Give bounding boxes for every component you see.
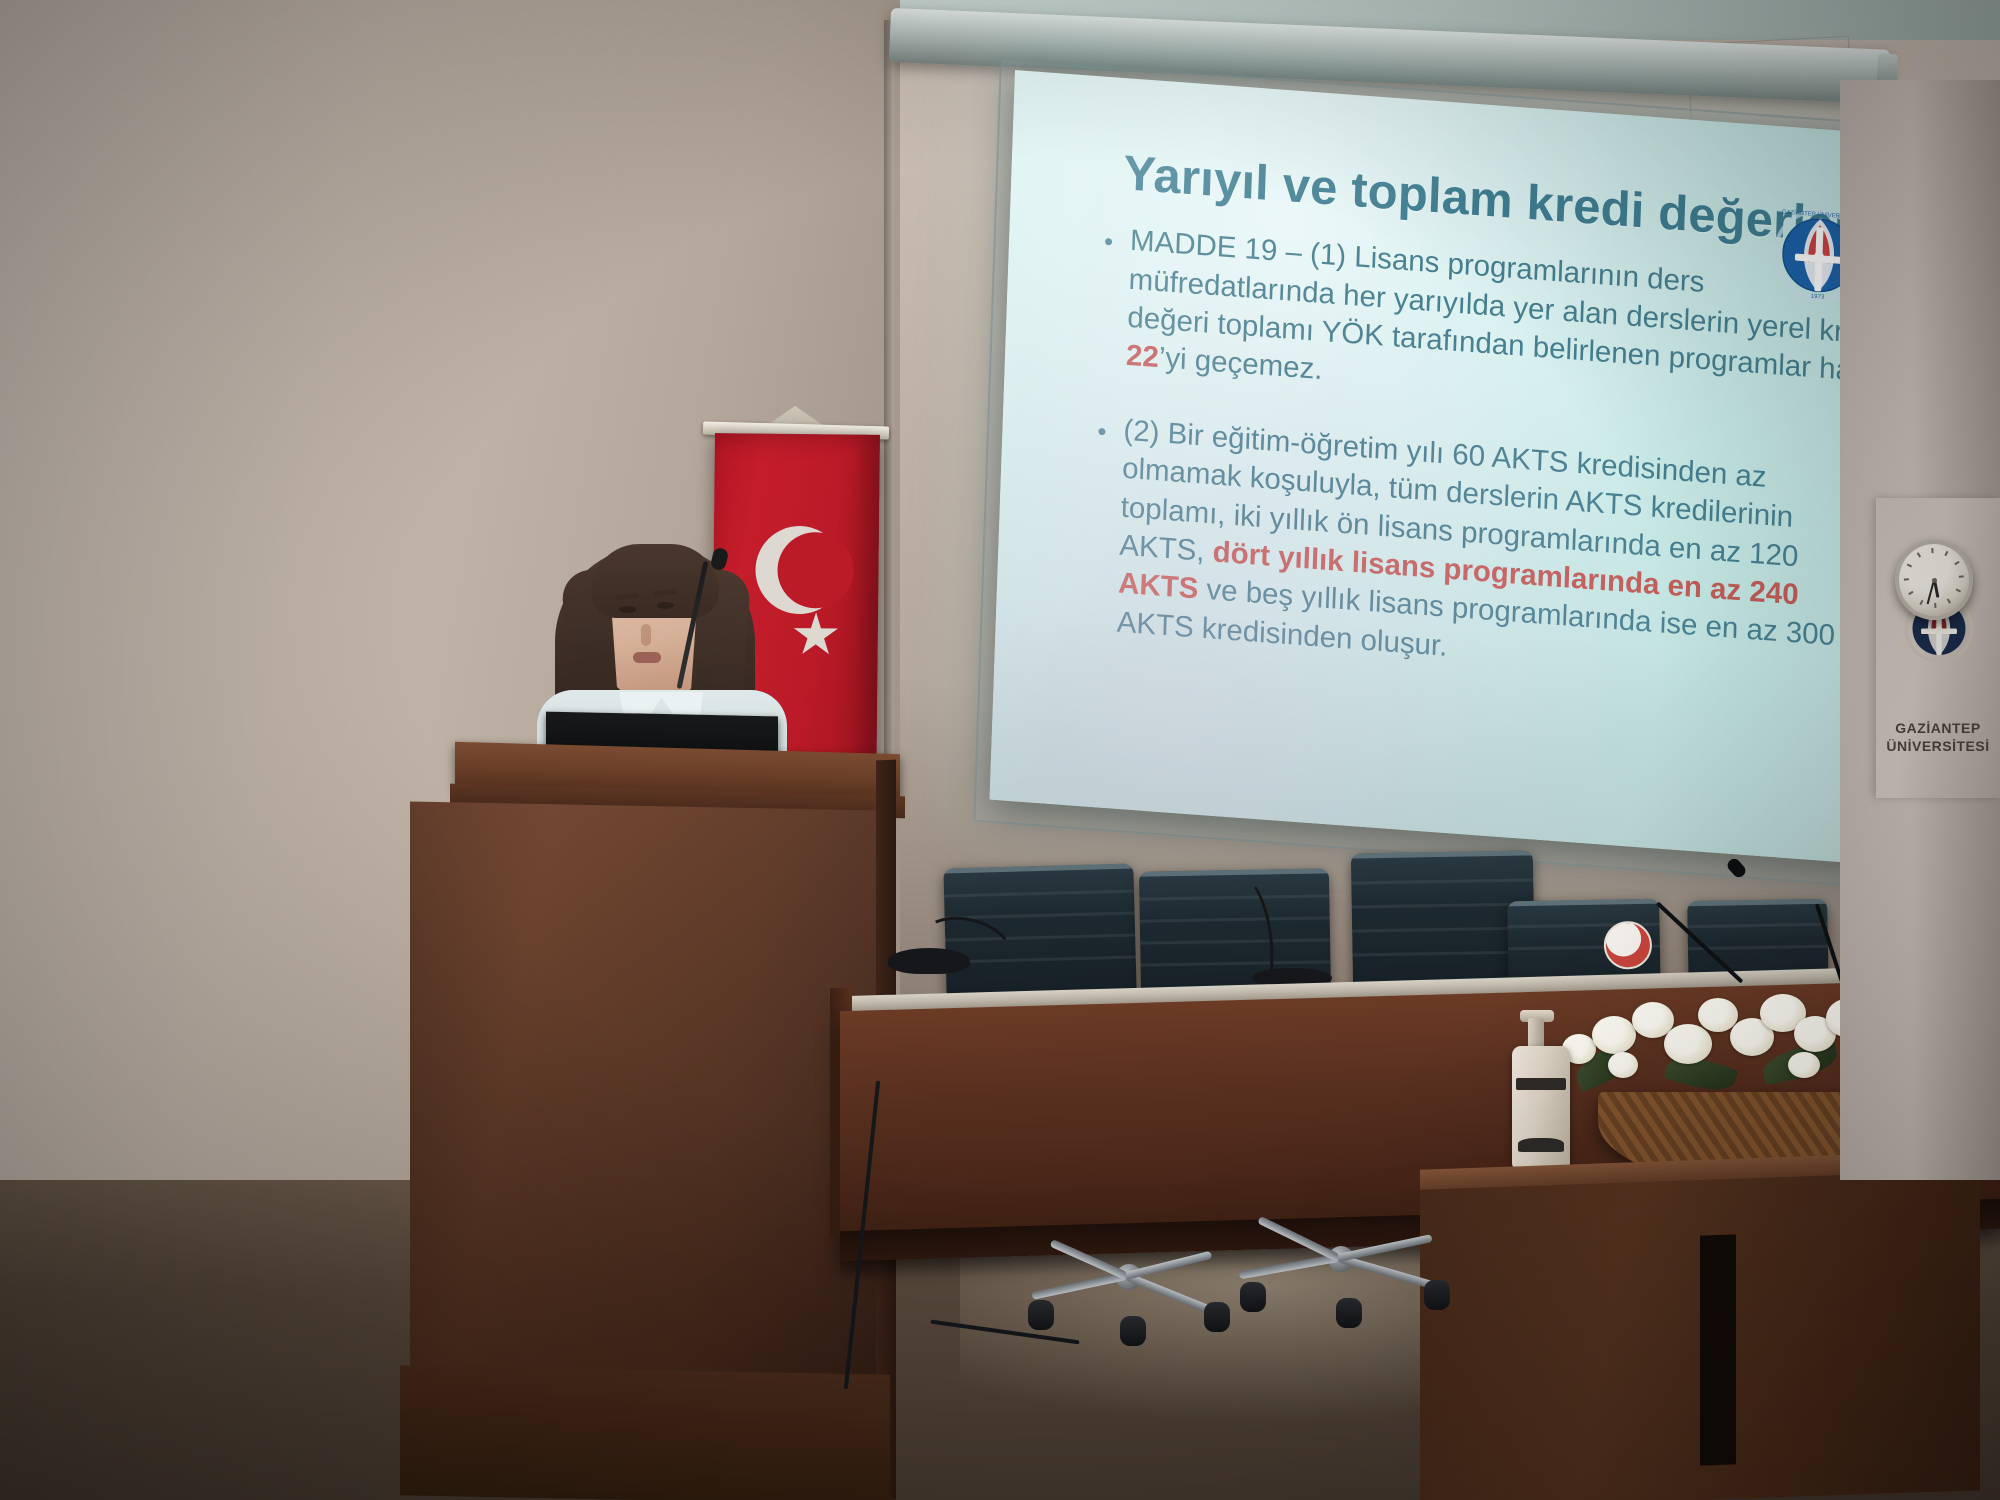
sanitizer-label-band bbox=[1516, 1078, 1566, 1090]
eye-right bbox=[657, 602, 674, 609]
chair-sticker bbox=[1603, 921, 1652, 970]
crescent-icon bbox=[755, 526, 844, 615]
presentation-slide: Yarıyıl ve toplam kredi değerleri GAZİAN… bbox=[990, 70, 1939, 867]
chair-top-highlight bbox=[1687, 899, 1827, 906]
chair-caster bbox=[1336, 1298, 1362, 1328]
eye-left bbox=[619, 606, 636, 613]
chair-caster bbox=[1424, 1280, 1450, 1310]
chair-caster bbox=[1240, 1282, 1266, 1312]
sanitizer-label-swoosh bbox=[1518, 1138, 1564, 1152]
presentation-room-photo: Yarıyıl ve toplam kredi değerleri GAZİAN… bbox=[0, 0, 2000, 1500]
venue-sign-line1: GAZİANTEP bbox=[1876, 720, 2000, 738]
lectern-base bbox=[400, 1365, 890, 1500]
star-icon bbox=[793, 612, 839, 658]
bullet-dot-icon bbox=[1098, 428, 1105, 436]
slide-bullet-2: (2) Bir eğitim-öğretim yılı 60 AKTS kred… bbox=[1091, 410, 1886, 698]
hand-sanitizer-bottle bbox=[1512, 1046, 1570, 1170]
chair-caster bbox=[1120, 1316, 1146, 1346]
side-table-gap bbox=[1700, 1234, 1736, 1465]
chair-wheel-base bbox=[1218, 1236, 1468, 1320]
nose bbox=[641, 624, 651, 646]
venue-sign-text: GAZİANTEP ÜNİVERSİTESİ bbox=[1876, 720, 2000, 755]
projection-screen: Yarıyıl ve toplam kredi değerleri GAZİAN… bbox=[990, 70, 1939, 867]
bullet-2-text: (2) Bir eğitim-öğretim yılı 60 AKTS kred… bbox=[1116, 411, 1887, 697]
mouth bbox=[633, 652, 661, 663]
chair-wheel-base bbox=[1020, 1250, 1250, 1330]
chair-caster bbox=[1028, 1300, 1054, 1330]
venue-sign-line2: ÜNİVERSİTESİ bbox=[1876, 738, 2000, 756]
svg-text:1973: 1973 bbox=[1811, 294, 1825, 301]
clock-minute-hand bbox=[1927, 580, 1935, 605]
bullet-dot-icon bbox=[1105, 238, 1112, 246]
clock-center-pin bbox=[1931, 577, 1936, 582]
